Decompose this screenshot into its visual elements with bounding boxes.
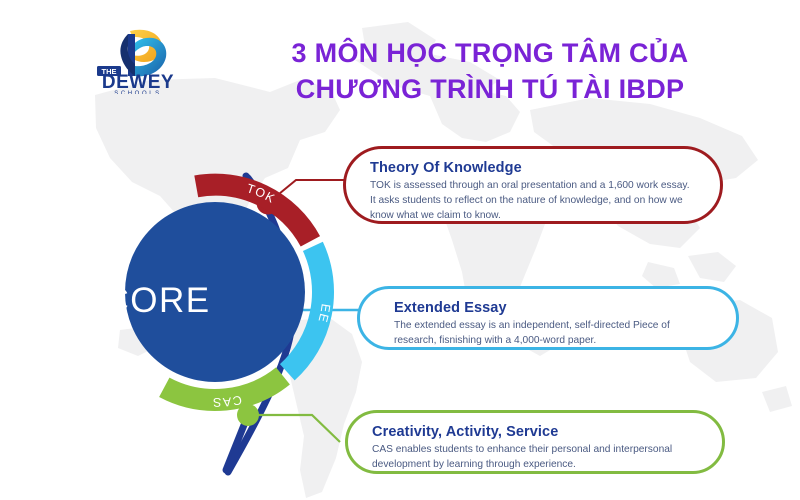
core-circle[interactable] xyxy=(125,202,305,382)
page-title-line-1: 3 MÔN HỌC TRỌNG TÂM CỦA xyxy=(190,36,790,72)
logo-sub-text: SCHOOLS xyxy=(114,91,162,94)
card-body-ee: The extended essay is an independent, se… xyxy=(394,319,714,349)
card-title-tok: Theory Of Knowledge xyxy=(370,160,698,176)
card-creativity-activity-service[interactable]: Creativity, Activity, Service CAS enable… xyxy=(345,410,725,474)
logo-mark xyxy=(120,30,166,77)
card-theory-of-knowledge[interactable]: Theory Of Knowledge TOK is assessed thro… xyxy=(343,146,723,224)
card-extended-essay[interactable]: Extended Essay The extended essay is an … xyxy=(357,286,739,350)
page-title: 3 MÔN HỌC TRỌNG TÂM CỦA CHƯƠNG TRÌNH TÚ … xyxy=(190,36,790,107)
dewey-schools-logo[interactable]: THE DEWEY SCHOOLS xyxy=(88,26,188,94)
card-body-cas: CAS enables students to enhance their pe… xyxy=(372,443,700,473)
logo-main-text: DEWEY xyxy=(102,72,174,93)
infographic-canvas: THE DEWEY SCHOOLS 3 MÔN HỌC TRỌNG TÂM CỦ… xyxy=(0,0,800,500)
card-title-cas: Creativity, Activity, Service xyxy=(372,424,700,440)
card-title-ee: Extended Essay xyxy=(394,300,714,316)
card-body-tok: TOK is assessed through an oral presenta… xyxy=(370,179,698,223)
page-title-line-2: CHƯƠNG TRÌNH TÚ TÀI IBDP xyxy=(190,72,790,108)
